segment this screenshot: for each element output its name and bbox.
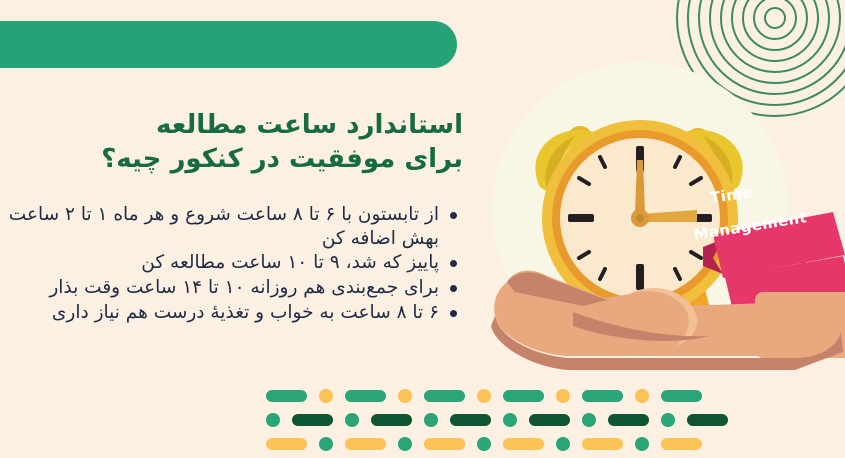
- pattern-dash: [345, 438, 386, 450]
- pattern-dot: [661, 413, 675, 427]
- pattern-dot: [635, 437, 649, 451]
- pattern-dot: [556, 389, 570, 403]
- pattern-dash: [582, 438, 623, 450]
- pattern-dash: [503, 390, 544, 402]
- pattern-dash: [661, 390, 702, 402]
- bottom-dash-pattern: [0, 384, 845, 458]
- list-item: برای جمع‌بندی هم روزانه ۱۰ تا ۱۴ ساعت وق…: [0, 276, 460, 300]
- pattern-dot: [398, 389, 412, 403]
- pattern-dot: [477, 389, 491, 403]
- pattern-dot: [345, 413, 359, 427]
- pattern-dash: [266, 438, 307, 450]
- pattern-dash: [503, 438, 544, 450]
- pattern-dash: [608, 414, 649, 426]
- study-hours-list: از تابستون با ۶ تا ۸ ساعت شروع و هر ماه …: [0, 203, 460, 325]
- list-item: پاییز که شد، ۹ تا ۱۰ ساعت مطالعه کن: [0, 251, 460, 275]
- green-pill-bar: [0, 21, 457, 68]
- pattern-dash: [424, 390, 465, 402]
- pattern-dot: [556, 437, 570, 451]
- pattern-dash: [266, 390, 307, 402]
- poster-canvas: استاندارد ساعت مطالعه برای موفقیت در کنک…: [0, 0, 845, 458]
- list-item: ۶ تا ۸ ساعت به خواب و تغذیهٔ درست هم نیا…: [0, 301, 460, 325]
- list-item: از تابستون با ۶ تا ۸ ساعت شروع و هر ماه …: [0, 203, 460, 250]
- pattern-dot: [398, 437, 412, 451]
- headline-line-2: برای موفقیت در کنکور چیه؟: [33, 142, 463, 176]
- pattern-dot: [635, 389, 649, 403]
- pattern-row-1: [0, 388, 845, 404]
- pattern-dot: [266, 413, 280, 427]
- pattern-dash: [424, 438, 465, 450]
- pattern-dash: [450, 414, 491, 426]
- pattern-row-3: [0, 436, 845, 452]
- pattern-dot: [582, 413, 596, 427]
- page-title: استاندارد ساعت مطالعه برای موفقیت در کنک…: [33, 108, 463, 177]
- pattern-dash: [345, 390, 386, 402]
- pattern-dash: [371, 414, 412, 426]
- pattern-dot: [424, 413, 438, 427]
- pattern-dash: [292, 414, 333, 426]
- pattern-dash: [529, 414, 570, 426]
- pattern-dot: [319, 389, 333, 403]
- pattern-dash: [661, 438, 702, 450]
- headline-line-1: استاندارد ساعت مطالعه: [156, 110, 463, 140]
- pattern-dash: [582, 390, 623, 402]
- pattern-row-2: [0, 412, 845, 428]
- pattern-dash: [687, 414, 728, 426]
- pattern-dot: [319, 437, 333, 451]
- pattern-dot: [477, 437, 491, 451]
- pattern-dot: [503, 413, 517, 427]
